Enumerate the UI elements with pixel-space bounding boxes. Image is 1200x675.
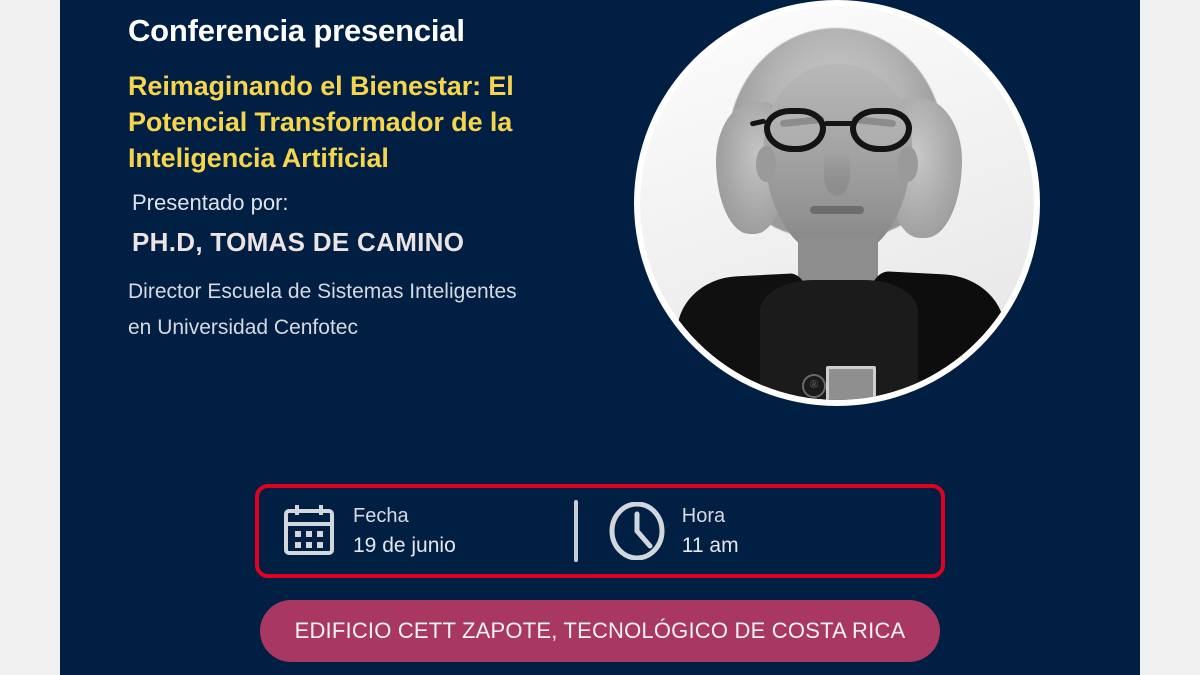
registered-mark-icon: ® — [802, 374, 826, 398]
time-info-item: Hora 11 am — [608, 502, 739, 560]
portrait-nose — [824, 152, 850, 196]
glasses-lens-right — [850, 108, 912, 152]
glasses-lens-left — [764, 108, 826, 152]
event-info-box: Fecha 19 de junio Hora 11 am — [255, 484, 945, 578]
date-value: 19 de junio — [353, 532, 456, 560]
date-label: Fecha — [353, 502, 456, 530]
poster-stage: Conferencia presencial Reimaginando el B… — [0, 0, 1200, 675]
time-texts: Hora 11 am — [682, 502, 739, 560]
presented-by-label: Presentado por: — [132, 190, 638, 216]
speaker-portrait: ® — [640, 6, 1034, 400]
venue-text: EDIFICIO CETT ZAPOTE, TECNOLÓGICO DE COS… — [295, 618, 906, 644]
glasses-bridge — [824, 121, 854, 126]
speaker-name: PH.D, TOMAS DE CAMINO — [132, 227, 638, 258]
speaker-role: Director Escuela de Sistemas Inteligente… — [128, 274, 528, 346]
portrait-image: ® — [640, 6, 1034, 400]
venue-banner: EDIFICIO CETT ZAPOTE, TECNOLÓGICO DE COS… — [260, 600, 940, 662]
clock-icon — [608, 502, 666, 560]
glasses-icon — [764, 108, 914, 154]
portrait-mouth — [810, 206, 864, 214]
event-title: Reimaginando el Bienestar: El Potencial … — [128, 69, 618, 177]
time-value: 11 am — [682, 532, 739, 560]
event-text-column: Conferencia presencial Reimaginando el B… — [128, 14, 638, 346]
portrait-shirt-badge — [826, 366, 876, 400]
info-divider — [574, 500, 578, 562]
time-label: Hora — [682, 502, 739, 530]
date-info-item: Fecha 19 de junio — [281, 502, 456, 560]
event-card: Conferencia presencial Reimaginando el B… — [60, 0, 1140, 675]
date-texts: Fecha 19 de junio — [353, 502, 456, 560]
calendar-icon — [281, 503, 337, 559]
event-kicker: Conferencia presencial — [128, 14, 638, 49]
